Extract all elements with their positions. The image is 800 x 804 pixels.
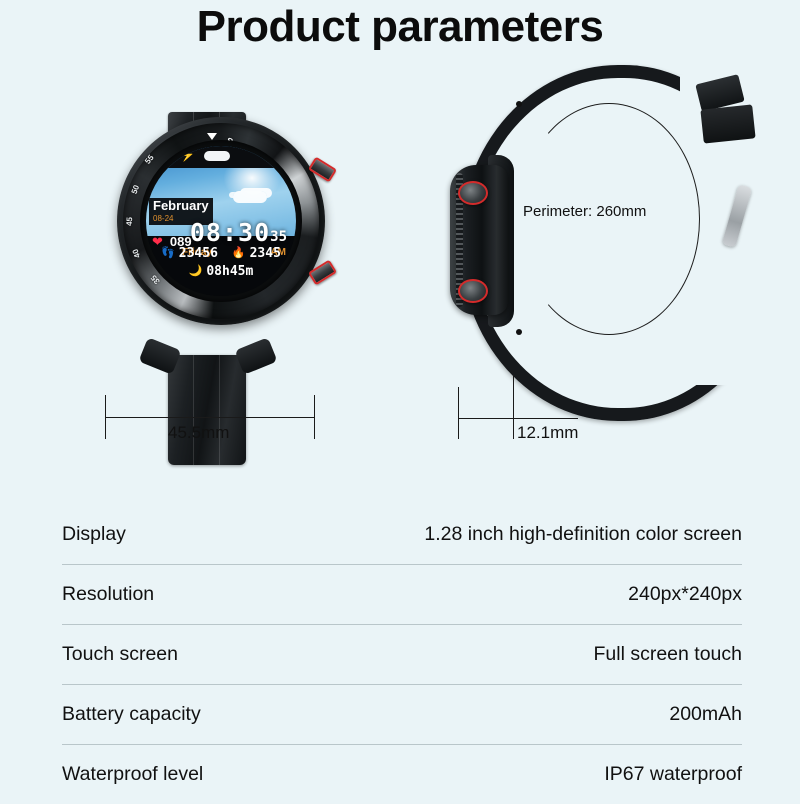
page-title: Product parameters <box>0 2 800 52</box>
spec-key: Resolution <box>62 583 154 606</box>
dim-label-thickness: 12.1mm <box>517 423 578 443</box>
time-value: 08:30 <box>190 218 270 247</box>
bezel-number: 45 <box>125 217 134 226</box>
product-images: Smatr Watch 55 50 45 40 35 30 25 20 15 1… <box>0 55 800 465</box>
spec-key: Display <box>62 523 126 546</box>
dim-tick-left <box>458 387 459 439</box>
sleep-stat: 🌙 08h45m <box>189 264 254 279</box>
flame-icon: 🔥 <box>232 248 246 259</box>
perimeter-arc-dot <box>516 329 522 335</box>
spec-key: Battery capacity <box>62 703 201 726</box>
watch-lug <box>234 337 277 375</box>
screen-stats: 👣 23456 🔥 2345 🌙 08h45m <box>146 246 296 282</box>
bezel-triangle-marker <box>207 133 217 140</box>
seconds-value: 35 <box>270 229 287 245</box>
perimeter-label: Perimeter: 260mm <box>523 203 646 220</box>
moon-icon: 🌙 <box>189 266 203 277</box>
perimeter-arc-dot <box>516 101 522 107</box>
spec-value: 240px*240px <box>628 583 742 606</box>
calories-stat: 🔥 2345 <box>232 246 281 261</box>
spec-table: Display 1.28 inch high-definition color … <box>62 505 742 804</box>
table-row: Battery capacity 200mAh <box>62 685 742 745</box>
table-row: Touch screen Full screen touch <box>62 625 742 685</box>
dim-line <box>458 418 578 419</box>
table-row: Resolution 240px*240px <box>62 565 742 625</box>
time-display: 08:3035 <box>190 218 287 247</box>
spec-value: IP67 waterproof <box>604 763 742 786</box>
bezel-number: 50 <box>130 184 142 195</box>
table-row: Display 1.28 inch high-definition color … <box>62 505 742 565</box>
stats-row-bottom: 🌙 08h45m <box>146 264 296 279</box>
footsteps-icon: 👣 <box>161 248 175 259</box>
spec-key: Touch screen <box>62 643 178 666</box>
side-crown-bottom[interactable] <box>458 279 488 303</box>
spec-value: 200mAh <box>669 703 742 726</box>
steps-stat: 👣 23456 <box>161 246 218 261</box>
watch-case-front: Smatr Watch 55 50 45 40 35 30 25 20 15 1… <box>117 117 325 325</box>
strap-buckle-lower <box>700 104 755 143</box>
lightning-bolt-icon: ⚡ <box>180 149 195 161</box>
spec-value: Full screen touch <box>594 643 743 666</box>
dim-line <box>105 417 315 418</box>
cloud-icon <box>233 191 267 203</box>
spec-value: 1.28 inch high-definition color screen <box>424 523 742 546</box>
product-parameters-page: Product parameters Smatr Watch 55 50 45 … <box>0 0 800 800</box>
spec-key: Waterproof level <box>62 763 203 786</box>
side-watch-view: Perimeter: 260mm <box>430 55 790 455</box>
month-label: February <box>153 199 209 213</box>
calories-value: 2345 <box>250 246 281 261</box>
screen-status-bar: ⚡ <box>146 146 296 168</box>
dim-tick-right <box>513 375 514 439</box>
watch-screen[interactable]: ⚡ February 08-24 ❤ 089 08:3035 <box>146 146 296 296</box>
table-row: Waterproof level IP67 waterproof <box>62 745 742 804</box>
sleep-value: 08h45m <box>206 264 253 279</box>
dim-label-width: 45.5mm <box>168 423 229 443</box>
side-crown-top[interactable] <box>458 181 488 205</box>
steps-value: 23456 <box>179 246 218 261</box>
status-pill <box>204 151 230 161</box>
bezel-number: 40 <box>131 248 143 259</box>
watch-strap-bottom <box>168 355 246 465</box>
stats-row-top: 👣 23456 🔥 2345 <box>146 246 296 261</box>
